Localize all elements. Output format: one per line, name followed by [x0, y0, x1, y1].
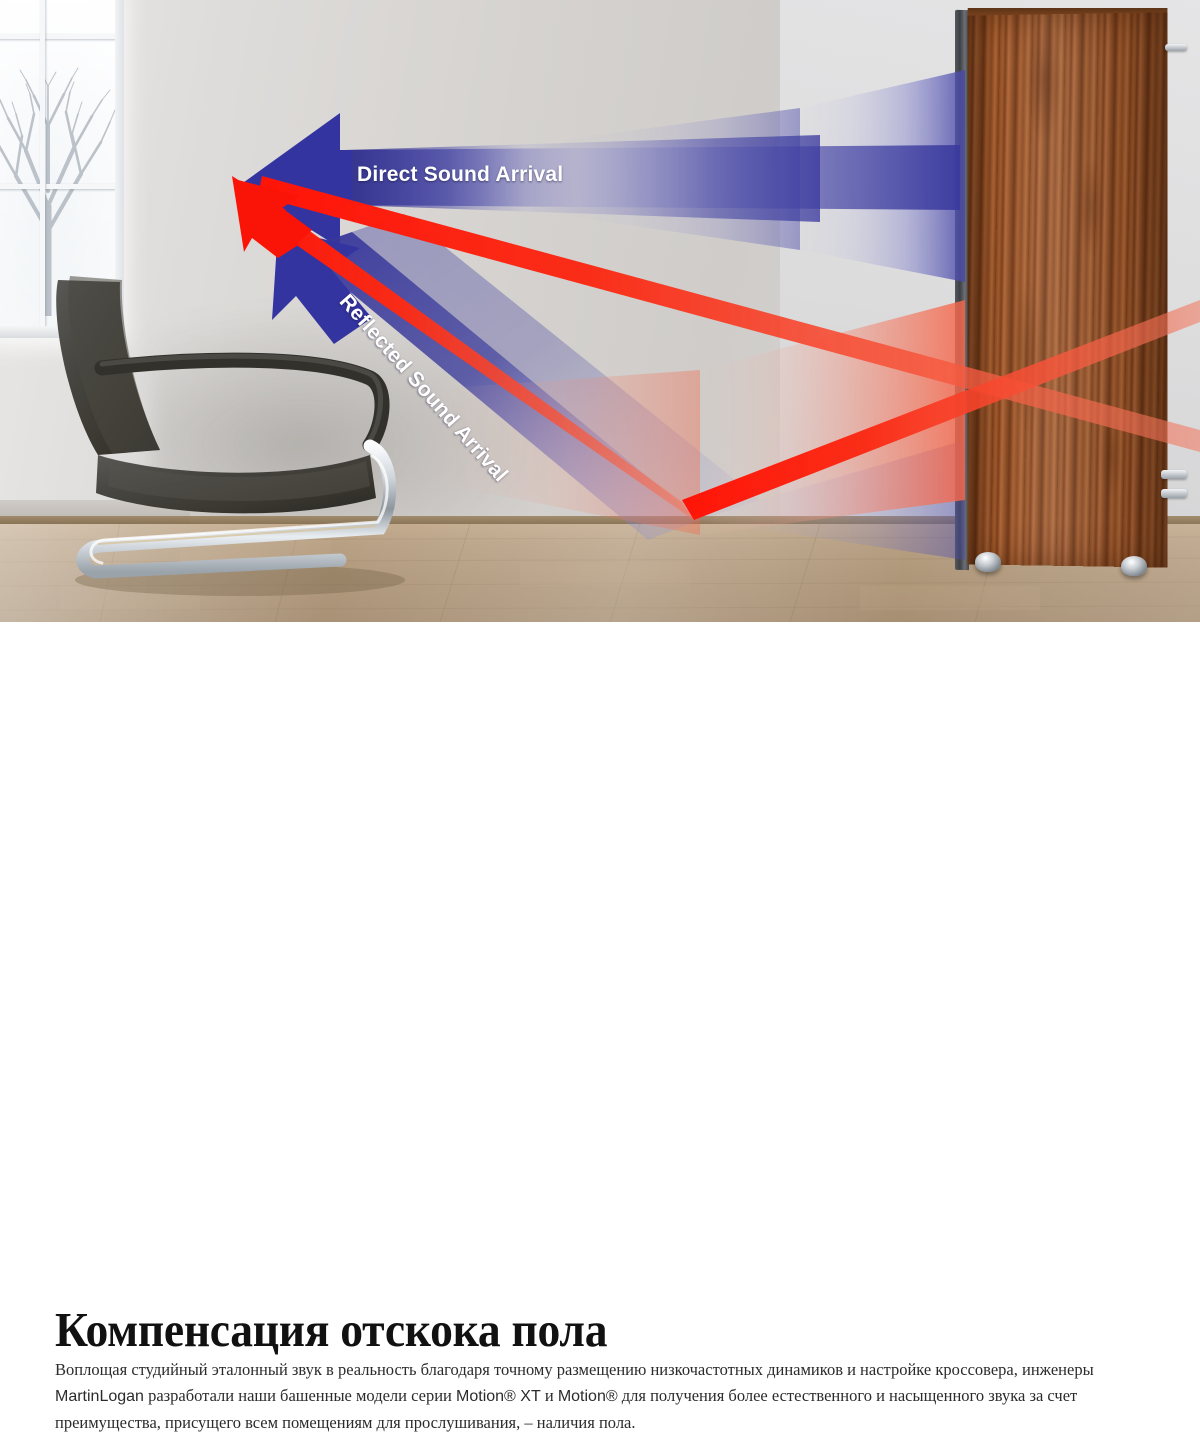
direct-sound-label: Direct Sound Arrival — [357, 163, 563, 187]
product-motion: Motion® — [558, 1388, 618, 1405]
description-paragraph: Воплощая студийный эталонный звук в реал… — [55, 1357, 1160, 1436]
paragraph-line-1: Воплощая студийный эталонный звук в реал… — [55, 1360, 1094, 1379]
paragraph-line-2-mid: разработали наши башенные модели серии — [144, 1386, 456, 1405]
page-root: Direct Sound Arrival Reflected Sound Arr… — [0, 0, 1200, 812]
floor-bounce-cone-far — [420, 370, 700, 535]
paragraph-line-3: преимущества, присущего всем помещениям … — [55, 1413, 636, 1432]
caption-section: Компенсация отскока пола Воплощая студий… — [0, 622, 1200, 812]
product-motion-xt: Motion® XT — [456, 1388, 541, 1405]
paragraph-line-2-post: для получения более естественного и насы… — [618, 1386, 1078, 1405]
page-title: Компенсация отскока пола — [55, 1305, 607, 1354]
sound-beam-overlay — [0, 0, 1200, 622]
paragraph-conjunction: и — [541, 1386, 558, 1405]
brand-martinlogan: MartinLogan — [55, 1388, 144, 1405]
hero-image: Direct Sound Arrival Reflected Sound Arr… — [0, 0, 1200, 622]
